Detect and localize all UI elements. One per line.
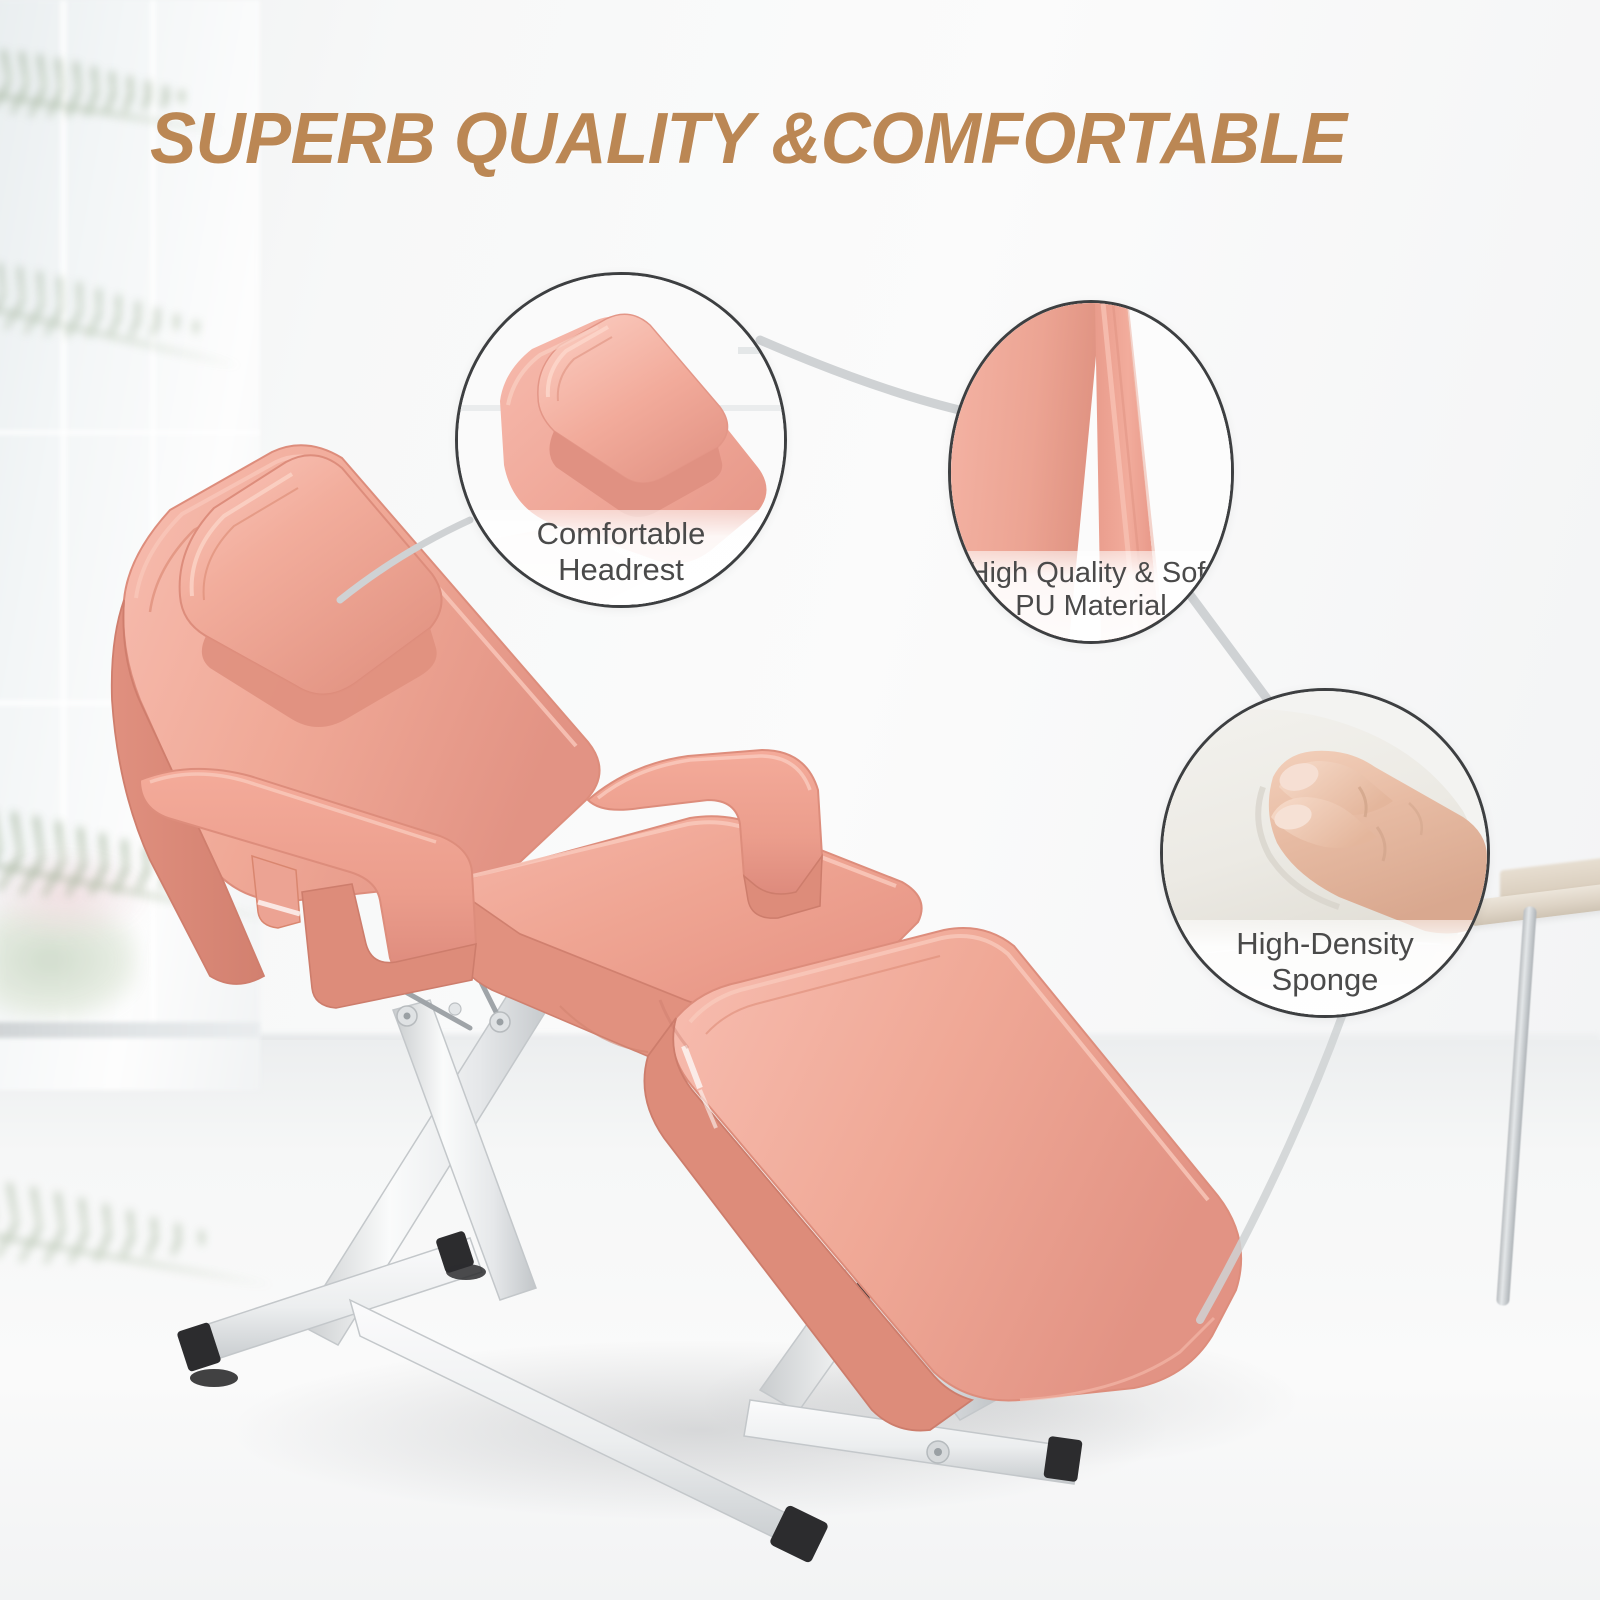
foot-cap-right bbox=[1043, 1436, 1083, 1482]
pivot-bolt-3 bbox=[449, 1003, 461, 1015]
callout-2-line2: PU Material bbox=[961, 590, 1221, 623]
callout-1-caption: Comfortable Headrest bbox=[458, 510, 784, 605]
callout-2-caption: High Quality & Soft PU Material bbox=[951, 551, 1231, 641]
callout-1-line2: Headrest bbox=[468, 552, 774, 587]
foot-glide-left-rear bbox=[190, 1369, 238, 1387]
callout-2-line1: High Quality & Soft bbox=[961, 557, 1221, 590]
product-marketing-image: SUPERB QUALITY &COMFORTABLE bbox=[0, 0, 1600, 1600]
foot-glide-left-front bbox=[446, 1264, 486, 1280]
callout-1-line1: Comfortable bbox=[468, 516, 774, 551]
callout-comfortable-headrest[interactable]: Comfortable Headrest bbox=[455, 272, 787, 608]
footrest-cushion bbox=[672, 928, 1241, 1400]
callout-3-line2: Sponge bbox=[1173, 962, 1477, 997]
callout-3-line1: High-Density bbox=[1173, 926, 1477, 961]
callout-3-caption: High-Density Sponge bbox=[1163, 920, 1487, 1015]
callout-high-density-sponge[interactable]: High-Density Sponge bbox=[1160, 688, 1490, 1018]
callout-pu-material[interactable]: High Quality & Soft PU Material bbox=[948, 300, 1234, 644]
